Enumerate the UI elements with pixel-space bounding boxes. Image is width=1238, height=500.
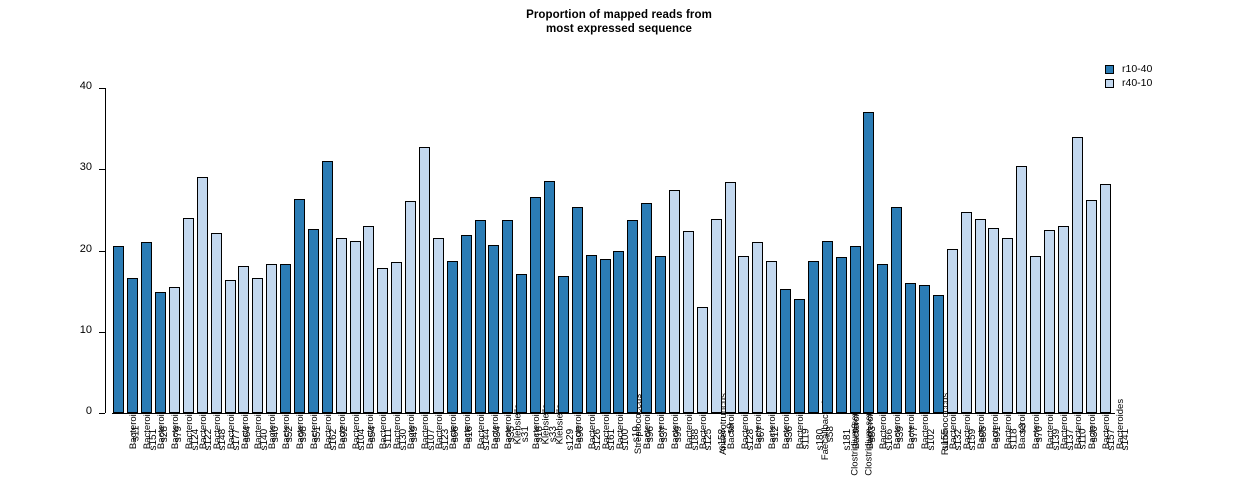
bar: Bacteroides: [1086, 200, 1097, 413]
x-tick-label: s85: [978, 426, 989, 442]
x-tick-label: s36: [784, 426, 795, 442]
x-tick-label: s91: [992, 426, 1003, 442]
bar: Bacteroides: [836, 257, 847, 413]
bar: Bacteroides: [947, 249, 958, 413]
bar: Bacteroides: [127, 278, 138, 413]
x-tick-label: s99: [673, 426, 684, 442]
x-tick-label: s54: [367, 426, 378, 442]
bar: Bacteroides: [363, 226, 374, 413]
bar: Anaerotruncus: [697, 307, 708, 413]
x-tick-label: s123: [439, 429, 450, 451]
x-tick-label: s3: [1017, 423, 1028, 434]
x-tick-label: s79: [173, 426, 184, 442]
bar: Bacteroides: [1016, 166, 1027, 413]
x-tick-label: s129: [564, 429, 575, 451]
x-tick-label: s64: [242, 426, 253, 442]
x-tick-label: s11: [131, 426, 142, 441]
y-axis-line: [105, 88, 106, 413]
x-tick-label: s92: [339, 426, 350, 442]
x-tick-label: s130: [398, 429, 409, 451]
x-tick-label: s19: [631, 426, 642, 442]
bar: Bacteroides: [516, 274, 527, 413]
x-tick-label: s33: [548, 426, 559, 442]
bar: Bacteroides: [1072, 137, 1083, 413]
legend-item: r40-10: [1105, 76, 1235, 90]
chart-title-line-2: most expressed sequence: [0, 22, 1238, 36]
x-tick-label: s40: [270, 426, 281, 442]
bar: Bacteroides: [711, 219, 722, 413]
y-tick-label: 30: [52, 161, 92, 173]
legend-item: r10-40: [1105, 62, 1235, 76]
bar: Bacteroides: [141, 242, 152, 413]
x-tick-label: s140: [259, 429, 270, 451]
x-tick-label: s31: [520, 426, 531, 442]
x-tick-label: s144: [481, 429, 492, 451]
x-tick-label: s159: [967, 429, 978, 451]
x-tick-label: s157: [1106, 429, 1117, 451]
x-tick-label: s52: [284, 426, 295, 442]
y-tick-mark: [99, 169, 105, 170]
y-tick-mark: [99, 88, 105, 89]
x-tick-label: s107: [425, 429, 436, 451]
x-tick-label: s51: [312, 426, 323, 442]
bar: Bacteroides: [1058, 226, 1069, 413]
x-tick-label: s110: [1078, 428, 1089, 449]
bar: Bacteroides: [1044, 230, 1055, 413]
x-tick-label: s111: [383, 428, 394, 448]
bar: Bacteroides: [780, 289, 791, 413]
x-tick-label: s35: [506, 426, 517, 442]
x-tick-label: s161: [606, 429, 617, 451]
bar: Bacteroides: [586, 255, 597, 413]
x-tick-label: s155: [939, 429, 950, 451]
bar: Bacteroides: [655, 256, 666, 413]
x-tick-label: s58: [825, 426, 836, 442]
y-tick-mark: [99, 413, 105, 414]
bar: Bacteroides: [377, 268, 388, 413]
bar: Bacteroides: [225, 280, 236, 413]
x-tick-label: s49: [409, 426, 420, 442]
chart-title: Proportion of mapped reads from most exp…: [0, 8, 1238, 36]
x-tick-label: s12: [770, 426, 781, 442]
bar: Bacteroides: [405, 201, 416, 413]
bar: Bacteroides: [447, 261, 458, 413]
x-tick-label: s96: [645, 426, 656, 442]
x-tick-label: s9: [725, 423, 736, 434]
bar: Faecalibacterium: [794, 299, 805, 413]
bar: Bacteroides: [391, 262, 402, 413]
x-tick-label: s30: [1089, 426, 1100, 442]
bar: Bacteroides: [1100, 184, 1111, 413]
bar: Bacteroides: [975, 219, 986, 413]
x-tick-label: s151: [148, 429, 159, 451]
y-tick-label: 10: [52, 324, 92, 336]
bar: Bacteroides: [863, 112, 874, 413]
bar: Bacteroides: [600, 259, 611, 413]
x-tick-label: s132: [953, 429, 964, 451]
bar: Bacteroides: [211, 233, 222, 413]
x-tick-label: s37: [659, 426, 670, 442]
legend: r10-40 r40-10: [1105, 62, 1235, 90]
x-tick-label: s128: [745, 429, 756, 451]
x-tick-label: s100: [620, 429, 631, 451]
bar: Bacteroides: [336, 238, 347, 414]
bar: Bacteroides: [197, 177, 208, 413]
y-tick-label: 40: [52, 80, 92, 92]
bar: Bacteroides: [766, 261, 777, 413]
x-tick-label: s90: [575, 426, 586, 442]
plot-area: BacteroidesBacteroidesBacteroidesBactero…: [112, 88, 1112, 413]
bar: Bacteroides: [475, 220, 486, 413]
bar: Bacteroides: [961, 212, 972, 413]
x-tick-label: s28: [159, 426, 170, 442]
bar: Bacteroides: [294, 199, 305, 414]
bar: Bacteroides: [238, 266, 249, 413]
bar: Bacteroides: [461, 235, 472, 413]
x-tick-label: s119: [800, 428, 811, 449]
x-tick-label: s83: [867, 426, 878, 442]
x-tick-label: s137: [1064, 429, 1075, 451]
bar: Bacteroides: [350, 241, 361, 413]
bar: Bacteroides: [266, 264, 277, 414]
x-tick-label: s139: [1050, 429, 1061, 451]
legend-label-r10-40: r10-40: [1122, 63, 1152, 75]
x-tick-label: s66: [450, 426, 461, 442]
x-tick-label: s18: [534, 426, 545, 442]
bar: Bacteroides: [155, 292, 166, 413]
bar: Clostridium sensu stricto: [822, 241, 833, 413]
chart-title-line-1: Proportion of mapped reads from: [0, 8, 1238, 22]
bar: Bacteroides: [252, 278, 263, 413]
bar: Bacteroides: [433, 238, 444, 413]
bar: Klebsiella: [544, 181, 555, 413]
legend-swatch-r40-10: [1105, 79, 1114, 88]
bar: Bacteroides: [933, 295, 944, 413]
x-tick-label: s188: [689, 429, 700, 451]
bar: Bacteroides: [627, 220, 638, 413]
x-axis-labels: s11s151s28s79s124s122s148s177s64s140s40s…: [112, 418, 1115, 498]
y-tick-label: 20: [52, 243, 92, 255]
bar: Bacteroides: [738, 256, 749, 413]
x-tick-label: s180: [814, 429, 825, 451]
x-tick-label: s148: [217, 429, 228, 451]
x-tick-label: s126: [592, 429, 603, 451]
bar: Bacteroides: [322, 161, 333, 413]
x-tick-label: s34: [492, 426, 503, 442]
x-tick-label: s67: [756, 426, 767, 442]
bar: Bacteroides: [683, 231, 694, 413]
bar: Bacteroides: [419, 147, 430, 414]
bar: Bacteroides: [280, 264, 291, 414]
y-tick-mark: [99, 332, 105, 333]
bar: Bacteroides: [572, 207, 583, 413]
legend-swatch-r10-40: [1105, 65, 1114, 74]
y-tick-label: 0: [52, 405, 92, 417]
bar: Ruminococcus: [919, 285, 930, 413]
bar: Bacteroides: [988, 228, 999, 413]
bar: Bacteroides: [169, 287, 180, 413]
bar: Clostridium sensu stricto: [808, 261, 819, 413]
x-tick-label: s162: [328, 429, 339, 451]
x-tick-label: s125: [703, 429, 714, 451]
chart-root: Proportion of mapped reads from most exp…: [0, 0, 1238, 500]
bar: Klebsiella: [502, 220, 513, 413]
bar: Bacteroides: [725, 182, 736, 413]
x-tick-label: s98: [298, 426, 309, 442]
x-tick-label: s177: [231, 429, 242, 451]
bar: Bacteroides: [850, 246, 861, 413]
bar: Bacteroides: [905, 283, 916, 413]
x-tick-label: s16: [464, 426, 475, 442]
bar: Bacteroides: [488, 245, 499, 413]
x-tick-label: s102: [925, 429, 936, 451]
bar: Bacteroides: [752, 242, 763, 413]
x-tick-label: s141: [1120, 429, 1131, 451]
bar: Bacteroides: [669, 190, 680, 413]
bar: Bacteroides: [877, 264, 888, 414]
x-tick-label: s39: [895, 426, 906, 442]
bar: Bacteroides: [558, 276, 569, 413]
bar: Bacteroides: [308, 229, 319, 413]
bar: Bacteroides: [641, 203, 652, 413]
bar: Bacteroides: [183, 218, 194, 413]
y-tick-mark: [99, 251, 105, 252]
bar: Bacteroides: [891, 207, 902, 413]
x-tick-label: s122: [203, 429, 214, 451]
bar: Bacteroides: [1030, 256, 1041, 413]
x-tick-label: s104: [356, 429, 367, 451]
x-tick-label: s166: [884, 429, 895, 451]
bar: Streptococcus: [613, 251, 624, 414]
x-tick-label: s77: [909, 426, 920, 442]
bar: Bacteroides: [113, 246, 124, 413]
bar: Klebsiella: [530, 197, 541, 413]
legend-label-r40-10: r40-10: [1122, 77, 1152, 89]
x-tick-label: s124: [189, 429, 200, 451]
bar: Bacteroides: [1002, 238, 1013, 414]
x-tick-label: s6: [850, 423, 861, 434]
x-tick-label: s70: [1034, 426, 1045, 442]
